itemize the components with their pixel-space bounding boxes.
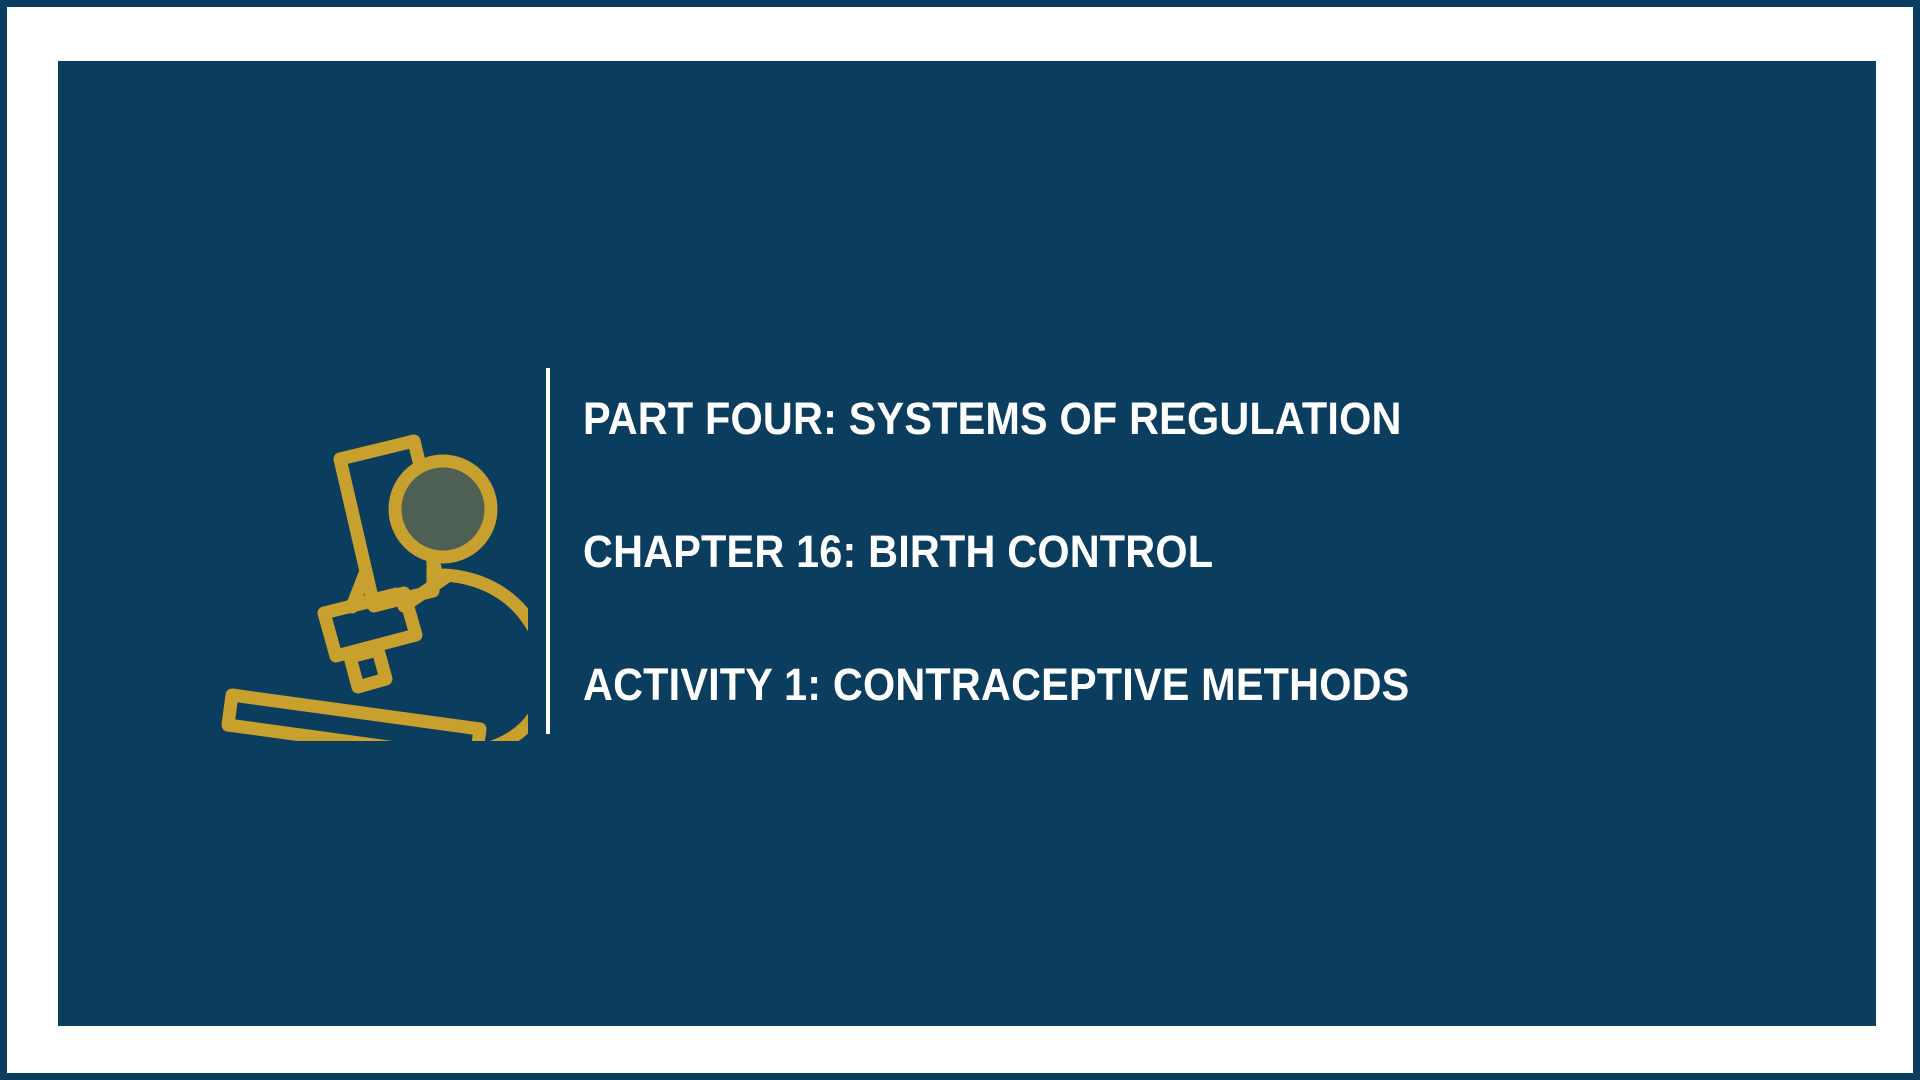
title-block: PART FOUR: SYSTEMS OF REGULATION CHAPTER… xyxy=(550,368,1758,734)
activity-title: ACTIVITY 1: CONTRACEPTIVE METHODS xyxy=(583,662,1664,707)
part-title: PART FOUR: SYSTEMS OF REGULATION xyxy=(583,396,1664,441)
microscope-icon-graphic xyxy=(218,361,528,741)
microscope-objective xyxy=(350,650,386,687)
slide-content: PART FOUR: SYSTEMS OF REGULATION CHAPTER… xyxy=(208,331,1758,771)
microscope-stage xyxy=(228,695,480,741)
microscope-icon xyxy=(208,351,538,751)
slide-panel: PART FOUR: SYSTEMS OF REGULATION CHAPTER… xyxy=(58,61,1876,1026)
title-slide: PART FOUR: SYSTEMS OF REGULATION CHAPTER… xyxy=(0,0,1920,1080)
microscope-lens xyxy=(395,461,491,557)
chapter-title: CHAPTER 16: BIRTH CONTROL xyxy=(583,529,1664,574)
microscope-arm xyxy=(444,575,528,741)
